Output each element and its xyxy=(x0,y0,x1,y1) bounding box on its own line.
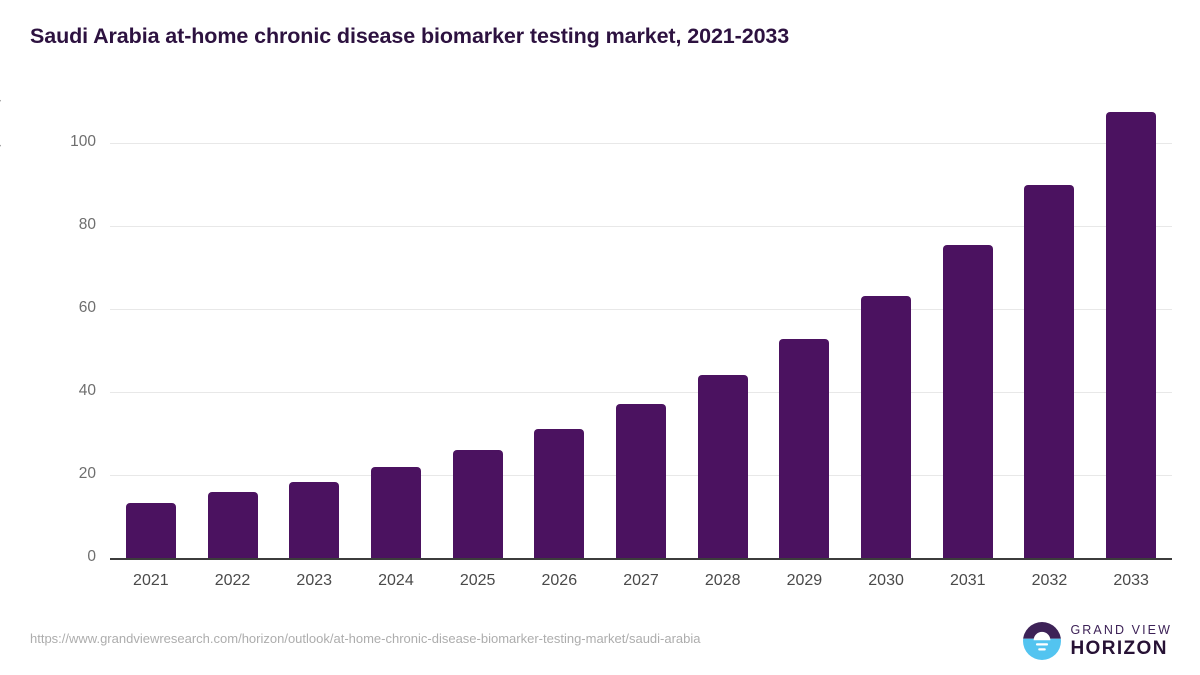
bar[interactable] xyxy=(779,339,829,558)
page-title: Saudi Arabia at-home chronic disease bio… xyxy=(30,24,789,49)
bar[interactable] xyxy=(861,296,911,558)
horizon-sun-circle-icon xyxy=(1023,622,1061,660)
x-tick-label: 2031 xyxy=(923,572,1013,590)
y-tick-label: 20 xyxy=(40,465,96,483)
x-tick-label: 2028 xyxy=(678,572,768,590)
source-url[interactable]: https://www.grandviewresearch.com/horizo… xyxy=(30,631,701,646)
logo-wordmark: GRAND VIEW HORIZON xyxy=(1070,624,1172,659)
x-tick-label: 2032 xyxy=(1004,572,1094,590)
bar[interactable] xyxy=(453,450,503,558)
x-tick-label: 2023 xyxy=(269,572,359,590)
y-tick-label: 0 xyxy=(40,548,96,566)
gridline xyxy=(110,309,1172,310)
bar[interactable] xyxy=(208,492,258,558)
x-tick-label: 2026 xyxy=(514,572,604,590)
x-axis-line xyxy=(110,558,1172,560)
grand-view-horizon-logo[interactable]: GRAND VIEW HORIZON xyxy=(1023,622,1172,660)
bar[interactable] xyxy=(534,429,584,558)
bar[interactable] xyxy=(698,375,748,558)
gridline xyxy=(110,143,1172,144)
bar[interactable] xyxy=(289,482,339,558)
y-tick-label: 60 xyxy=(40,299,96,317)
bar[interactable] xyxy=(1106,112,1156,558)
chart-page: Saudi Arabia at-home chronic disease bio… xyxy=(0,0,1200,675)
x-tick-label: 2024 xyxy=(351,572,441,590)
bar[interactable] xyxy=(371,467,421,558)
x-tick-label: 2025 xyxy=(433,572,523,590)
gridline xyxy=(110,226,1172,227)
bar[interactable] xyxy=(616,404,666,558)
x-tick-label: 2021 xyxy=(106,572,196,590)
y-tick-label: 80 xyxy=(40,216,96,234)
y-axis-title: Market Size (US$M) xyxy=(0,96,2,236)
bar[interactable] xyxy=(943,245,993,558)
logo-line-1: GRAND VIEW xyxy=(1070,624,1172,637)
bar[interactable] xyxy=(126,503,176,558)
gridline xyxy=(110,392,1172,393)
x-tick-label: 2022 xyxy=(188,572,278,590)
x-tick-label: 2029 xyxy=(759,572,849,590)
x-tick-label: 2033 xyxy=(1086,572,1176,590)
x-tick-label: 2027 xyxy=(596,572,686,590)
logo-line-2: HORIZON xyxy=(1070,639,1172,658)
bar[interactable] xyxy=(1024,185,1074,559)
y-tick-label: 40 xyxy=(40,382,96,400)
x-tick-label: 2030 xyxy=(841,572,931,590)
y-tick-label: 100 xyxy=(40,133,96,151)
plot-area xyxy=(110,143,1172,558)
